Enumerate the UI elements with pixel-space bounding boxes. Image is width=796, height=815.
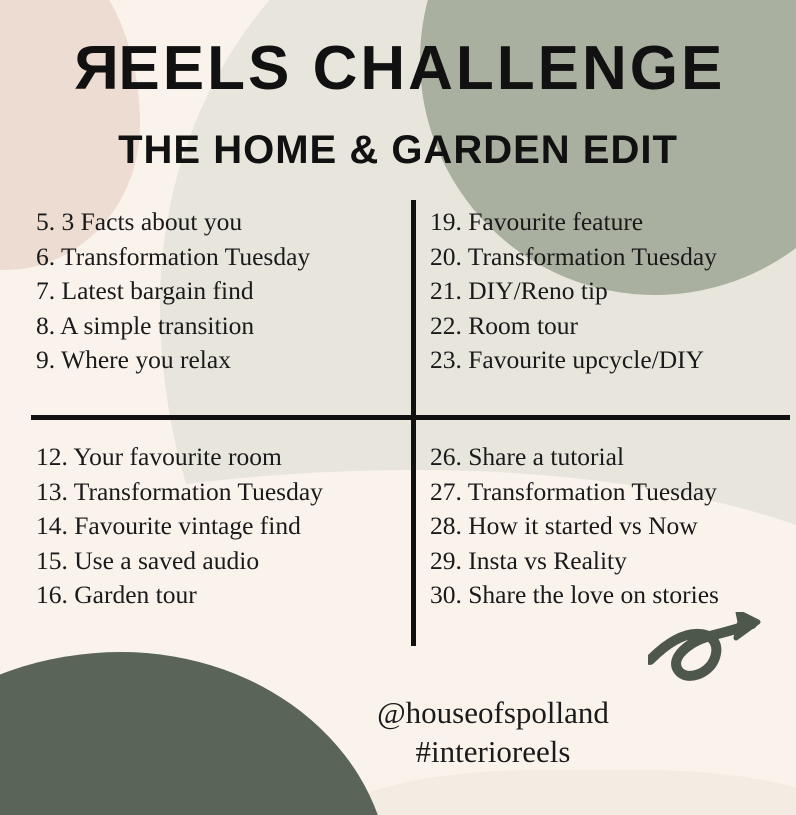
vertical-divider: [411, 200, 416, 646]
list-item-label: Transformation Tuesday: [468, 477, 717, 506]
list-item: 30. Share the love on stories: [430, 578, 719, 613]
list-item-number: 27.: [430, 477, 462, 506]
list-item-number: 20.: [430, 242, 462, 271]
list-item-number: 14.: [36, 511, 68, 540]
list-item-number: 29.: [430, 546, 462, 575]
instagram-handle: @houseofspolland: [0, 697, 796, 728]
hashtag-label: #interioreels: [0, 736, 796, 767]
list-item-label: How it started vs Now: [468, 511, 697, 540]
list-item: 5. 3 Facts about you: [36, 205, 310, 240]
list-item-label: A simple transition: [60, 311, 254, 340]
list-item-label: Insta vs Reality: [468, 546, 627, 575]
poster-content: REELS CHALLENGE THE HOME & GARDEN EDIT 5…: [0, 0, 796, 815]
list-item: 14. Favourite vintage find: [36, 509, 323, 544]
list-item-label: Garden tour: [74, 580, 197, 609]
list-item-number: 16.: [36, 580, 68, 609]
list-quadrant-bottom-left: 12. Your favourite room 13. Transformati…: [36, 440, 323, 613]
list-item: 15. Use a saved audio: [36, 544, 323, 579]
list-item: 26. Share a tutorial: [430, 440, 719, 475]
list-item: 21. DIY/Reno tip: [430, 274, 717, 309]
list-item-label: Latest bargain find: [62, 276, 254, 305]
list-item-number: 7.: [36, 276, 55, 305]
curly-arrow-up-right-icon: [648, 612, 764, 702]
title-rest: EELS CHALLENGE: [118, 34, 725, 103]
list-item-number: 26.: [430, 442, 462, 471]
list-item: 12. Your favourite room: [36, 440, 323, 475]
list-item-number: 12.: [36, 442, 68, 471]
list-item: 28. How it started vs Now: [430, 509, 719, 544]
list-quadrant-top-left: 5. 3 Facts about you 6. Transformation T…: [36, 205, 310, 378]
list-item-label: Favourite upcycle/DIY: [468, 345, 704, 374]
list-item-label: Transformation Tuesday: [74, 477, 323, 506]
list-item-label: Share the love on stories: [468, 580, 719, 609]
list-item: 22. Room tour: [430, 309, 717, 344]
list-item-number: 5.: [36, 207, 55, 236]
page-title: REELS CHALLENGE: [0, 38, 796, 100]
list-item: 23. Favourite upcycle/DIY: [430, 343, 717, 378]
list-item-label: Share a tutorial: [468, 442, 624, 471]
list-item: 27. Transformation Tuesday: [430, 475, 719, 510]
list-item-label: Use a saved audio: [74, 546, 259, 575]
list-item-label: Favourite vintage find: [74, 511, 301, 540]
list-item: 19. Favourite feature: [430, 205, 717, 240]
list-item: 9. Where you relax: [36, 343, 310, 378]
list-item-label: Transformation Tuesday: [468, 242, 717, 271]
list-item-label: Where you relax: [61, 345, 231, 374]
list-item: 20. Transformation Tuesday: [430, 240, 717, 275]
title-flipped-r: R: [71, 38, 119, 100]
list-item-label: Your favourite room: [73, 442, 281, 471]
list-item-label: 3 Facts about you: [62, 207, 243, 236]
list-item-label: Room tour: [468, 311, 578, 340]
reels-challenge-poster: REELS CHALLENGE THE HOME & GARDEN EDIT 5…: [0, 0, 796, 815]
list-item: 6. Transformation Tuesday: [36, 240, 310, 275]
list-item: 8. A simple transition: [36, 309, 310, 344]
list-item: 29. Insta vs Reality: [430, 544, 719, 579]
list-item-number: 30.: [430, 580, 462, 609]
list-quadrant-top-right: 19. Favourite feature 20. Transformation…: [430, 205, 717, 378]
list-item-number: 22.: [430, 311, 462, 340]
list-item-number: 23.: [430, 345, 462, 374]
list-item: 7. Latest bargain find: [36, 274, 310, 309]
list-item-number: 13.: [36, 477, 68, 506]
list-item-number: 21.: [430, 276, 462, 305]
list-item-number: 9.: [36, 345, 55, 374]
list-item-number: 8.: [36, 311, 55, 340]
list-item-label: Favourite feature: [468, 207, 643, 236]
page-subtitle: THE HOME & GARDEN EDIT: [0, 130, 796, 170]
list-item-label: DIY/Reno tip: [468, 276, 608, 305]
list-quadrant-bottom-right: 26. Share a tutorial 27. Transformation …: [430, 440, 719, 613]
list-item-label: Transformation Tuesday: [61, 242, 310, 271]
list-item-number: 28.: [430, 511, 462, 540]
list-item: 13. Transformation Tuesday: [36, 475, 323, 510]
list-item: 16. Garden tour: [36, 578, 323, 613]
list-item-number: 15.: [36, 546, 68, 575]
list-item-number: 6.: [36, 242, 55, 271]
list-item-number: 19.: [430, 207, 462, 236]
